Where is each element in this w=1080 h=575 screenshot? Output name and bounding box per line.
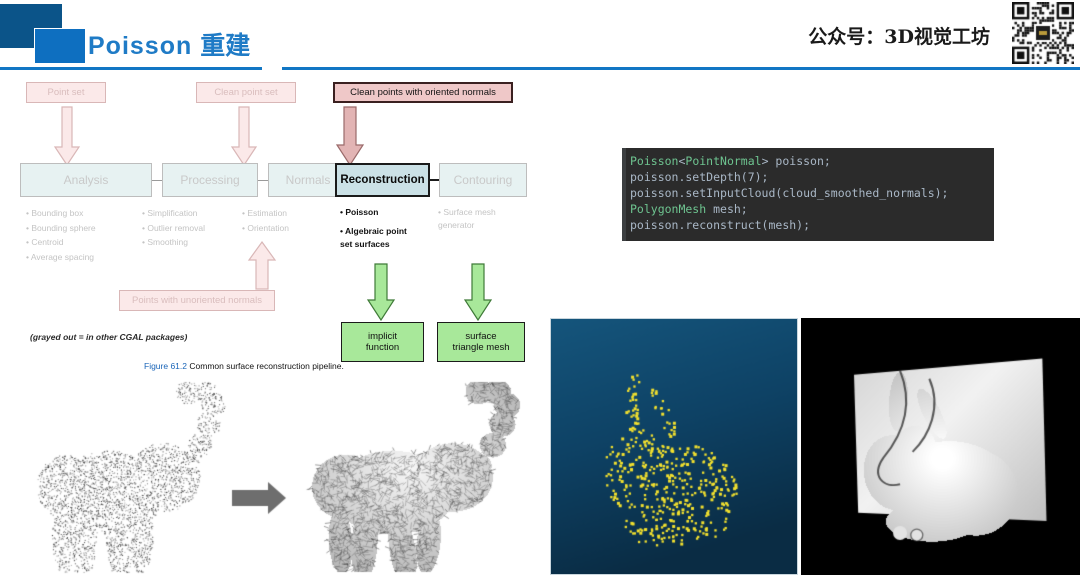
arrow-down-point-set-icon (53, 107, 81, 167)
bullet-item: • Smoothing (142, 235, 205, 250)
bullet-item: • Centroid (26, 235, 96, 250)
header-divider-gap (262, 67, 282, 70)
code-token: PointNormal (685, 154, 761, 168)
slide-canvas: Poisson 重建 公众号：3D视觉工坊 Point set Clean po… (0, 0, 1080, 575)
cgal-pipeline-diagram: Point set Clean point set Clean points w… (8, 76, 548, 376)
arrow-down-implicit-function-icon (366, 264, 396, 322)
feedback-box-unoriented-normals: Points with unoriented normals (119, 290, 275, 311)
input-box-clean-point-set: Clean point set (196, 82, 296, 103)
arrow-up-unoriented-normals-icon (247, 241, 277, 291)
arrow-down-clean-point-set-icon (230, 107, 258, 167)
arrow-down-surface-mesh-icon (463, 264, 493, 322)
code-token: poisson.setInputCloud(cloud_smoothed_nor… (630, 186, 949, 200)
stage-contouring[interactable]: Contouring (439, 163, 527, 197)
bullet-item: • Estimation (242, 206, 289, 221)
code-token: poisson.setDepth(7); (630, 170, 768, 184)
arrow-down-oriented-normals-icon (335, 107, 365, 167)
stage-analysis[interactable]: Analysis (20, 163, 152, 197)
bullet-item: • Outlier removal (142, 221, 205, 236)
bullet-item: • Algebraic point set surfaces (340, 225, 420, 251)
output-line-2: function (366, 342, 399, 354)
page-title-en: Poisson (88, 32, 192, 60)
output-line-1: implicit (368, 331, 397, 343)
code-block[interactable]: Poisson<PointNormal> poisson;poisson.set… (622, 148, 994, 241)
bunny-point-cloud-image (550, 318, 798, 575)
legend-note: (grayed out = in other CGAL packages) (30, 332, 187, 342)
stage-processing[interactable]: Processing (162, 163, 258, 197)
code-line: poisson.reconstruct(mesh); (630, 217, 994, 233)
input-box-clean-points-oriented-normals: Clean points with oriented normals (333, 82, 513, 103)
code-token: PolygonMesh (630, 202, 706, 216)
code-token: > poisson; (762, 154, 831, 168)
page-title-cn: 重建 (200, 31, 250, 60)
output-line-2: triangle mesh (452, 342, 509, 354)
connector-reconstruction-contouring (430, 179, 439, 181)
code-line: poisson.setInputCloud(cloud_smoothed_nor… (630, 185, 994, 201)
output-box-surface-triangle-mesh: surface triangle mesh (437, 322, 525, 362)
bullet-item: • Simplification (142, 206, 205, 221)
bullets-contouring: • Surface mesh generator (438, 206, 518, 232)
header-divider (0, 67, 1080, 70)
elephant-point-cloud-image (10, 378, 550, 575)
code-lines: Poisson<PointNormal> poisson;poisson.set… (630, 153, 994, 233)
code-token: Poisson (630, 154, 678, 168)
elephant-reconstruction-figure (10, 378, 550, 575)
code-token: mesh; (706, 202, 748, 216)
bullets-analysis: • Bounding box • Bounding sphere • Centr… (26, 206, 96, 264)
bullets-reconstruction: • Poisson • Algebraic point set surfaces (340, 206, 420, 251)
input-box-point-set: Point set (26, 82, 106, 103)
bunny-reconstructed-mesh-image (801, 318, 1080, 575)
bullets-normals: • Estimation • Orientation (242, 206, 289, 235)
qr-code (1012, 2, 1074, 64)
brand-text: 公众号：3D视觉工坊 (808, 22, 990, 49)
page-title: Poisson 重建 (88, 26, 250, 62)
code-gutter (622, 148, 626, 241)
output-line-1: surface (465, 331, 496, 343)
bullet-item: • Average spacing (26, 250, 96, 265)
code-token: poisson.reconstruct(mesh); (630, 218, 810, 232)
bullets-processing: • Simplification • Outlier removal • Smo… (142, 206, 205, 250)
bullet-item: • Surface mesh generator (438, 206, 518, 232)
connector-processing-normals (258, 180, 268, 181)
code-line: PolygonMesh mesh; (630, 201, 994, 217)
bullet-item: • Bounding sphere (26, 221, 96, 236)
bullet-item: • Poisson (340, 206, 420, 219)
figure-number: Figure 61.2 (144, 361, 187, 371)
bunny-mesh-canvas (801, 318, 1080, 575)
figure-caption-text: Common surface reconstruction pipeline. (189, 361, 344, 371)
logo-square-light (34, 28, 86, 64)
bunny-points-canvas (551, 319, 797, 574)
code-line: Poisson<PointNormal> poisson; (630, 153, 994, 169)
output-box-implicit-function: implicit function (341, 322, 424, 362)
stage-reconstruction[interactable]: Reconstruction (335, 163, 430, 197)
code-line: poisson.setDepth(7); (630, 169, 994, 185)
figure-caption: Figure 61.2 Common surface reconstructio… (144, 361, 344, 371)
bullet-item: • Orientation (242, 221, 289, 236)
bullet-item: • Bounding box (26, 206, 96, 221)
connector-analysis-processing (152, 180, 162, 181)
